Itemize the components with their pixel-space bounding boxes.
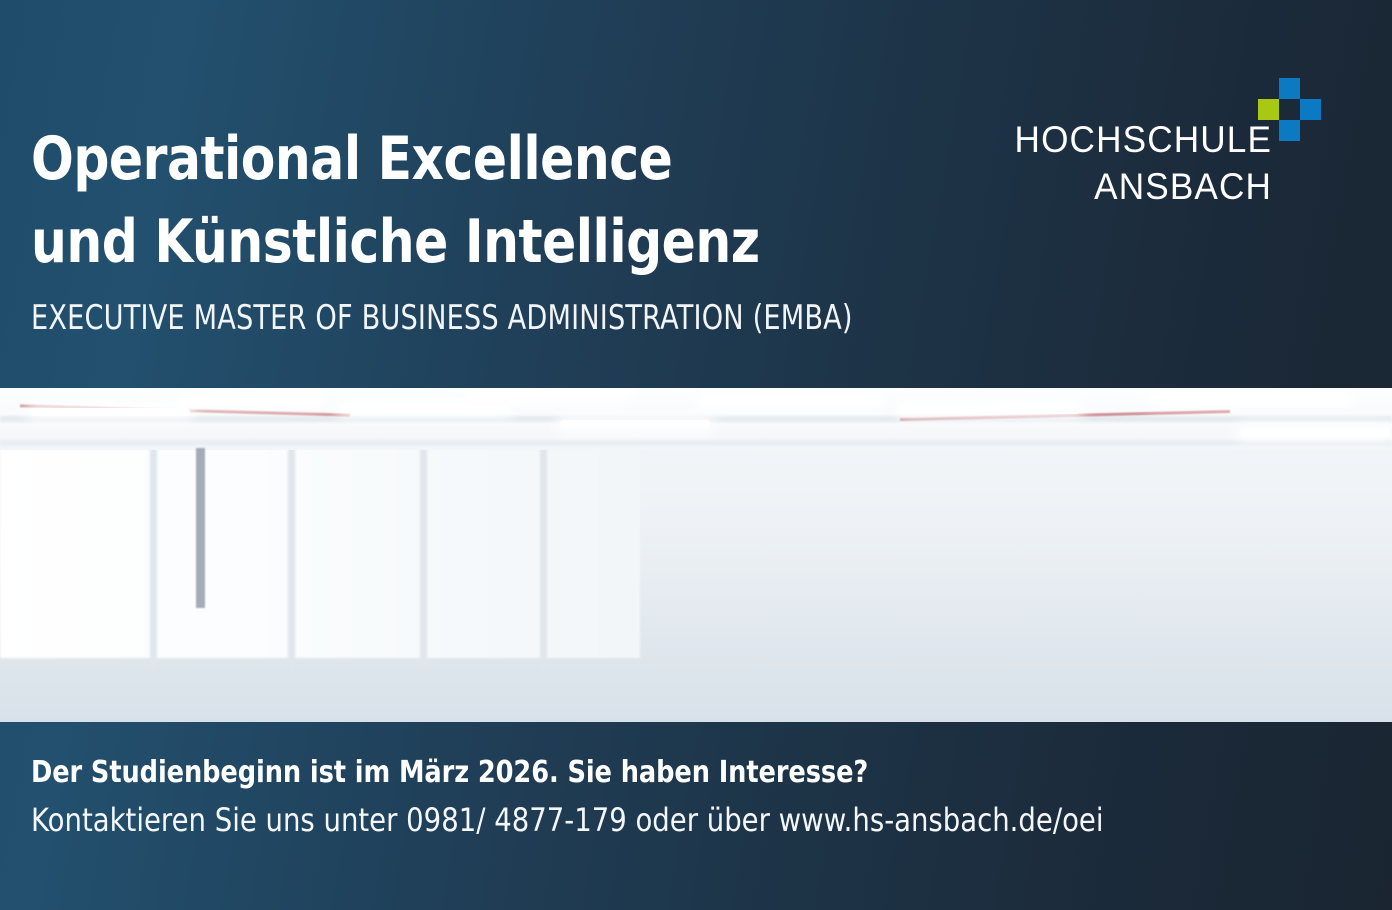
footer-band: Der Studienbeginn ist im März 2026. Sie …: [0, 722, 1392, 910]
footer-contact: Kontaktieren Sie uns unter 0981/ 4877-17…: [31, 800, 1104, 840]
ceiling-lamp: [470, 390, 630, 398]
ceiling-lamp: [180, 396, 320, 404]
hero-photo: KRANANLAGE: [0, 388, 1392, 722]
window-mullion: [540, 428, 547, 668]
window-mullion: [288, 428, 295, 668]
factory-scene: KRANANLAGE: [0, 388, 1392, 722]
ceiling-lamp: [1150, 394, 1350, 402]
logo-square-blue-top: [1279, 78, 1300, 99]
ceiling-lamp: [30, 408, 190, 416]
footer-headline: Der Studienbeginn ist im März 2026. Sie …: [31, 755, 868, 791]
logo-square-blue-right: [1300, 99, 1321, 120]
ceiling-lamp: [700, 398, 880, 406]
ceiling-lamp: [900, 406, 1080, 414]
headline-line-2: und Künstliche Intelligenz: [31, 201, 871, 284]
header-band: Operational Excellence und Künstliche In…: [0, 0, 1392, 388]
logo-line-ansbach: ANSBACH: [1015, 163, 1272, 210]
ceiling-lamp: [340, 405, 510, 413]
window-mullion: [420, 428, 427, 668]
headline-line-1: Operational Excellence: [31, 118, 871, 201]
ceiling-lamp: [1240, 428, 1390, 436]
ceiling-rail: [0, 440, 1392, 446]
window-mullion: [150, 428, 157, 668]
hochschule-ansbach-logo[interactable]: HOCHSCHULE ANSBACH: [1040, 78, 1272, 208]
logo-square-blue-bottom: [1279, 120, 1300, 141]
logo-line-hochschule: HOCHSCHULE: [1015, 116, 1272, 163]
page-title: Operational Excellence und Künstliche In…: [31, 118, 871, 284]
ceiling-lamp: [560, 420, 710, 428]
logo-wordmark: HOCHSCHULE ANSBACH: [1015, 116, 1272, 210]
grey-column: [196, 448, 205, 608]
poster-root: Operational Excellence und Künstliche In…: [0, 0, 1392, 910]
page-subtitle: EXECUTIVE MASTER OF BUSINESS ADMINISTRAT…: [31, 298, 853, 338]
